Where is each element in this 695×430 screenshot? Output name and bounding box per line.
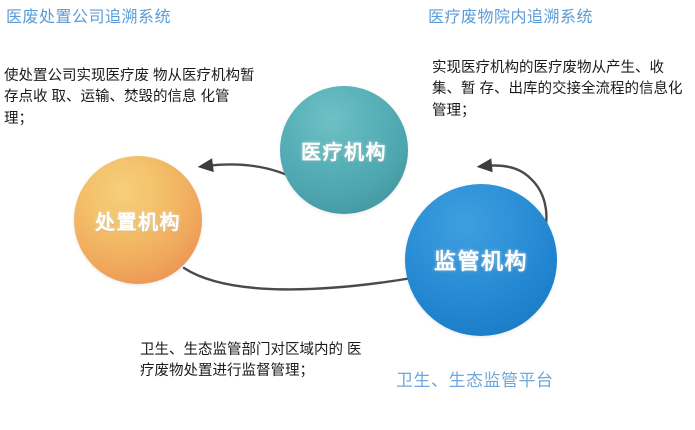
node-label-disposal: 处置机构 bbox=[95, 206, 181, 235]
node-label-regulator: 监管机构 bbox=[434, 244, 528, 276]
node-medical-institution[interactable]: 医疗机构 bbox=[280, 86, 408, 214]
node-label-medical: 医疗机构 bbox=[301, 136, 387, 165]
arrow-disposal-to-regulator bbox=[184, 268, 418, 289]
node-disposal-organization[interactable]: 处置机构 bbox=[74, 156, 202, 284]
diagram-canvas: 医废处置公司追溯系统 医疗废物院内追溯系统 使处置公司实现医疗废 物从医疗机构暂… bbox=[0, 0, 695, 430]
node-regulatory-authority[interactable]: 监管机构 bbox=[405, 184, 557, 336]
